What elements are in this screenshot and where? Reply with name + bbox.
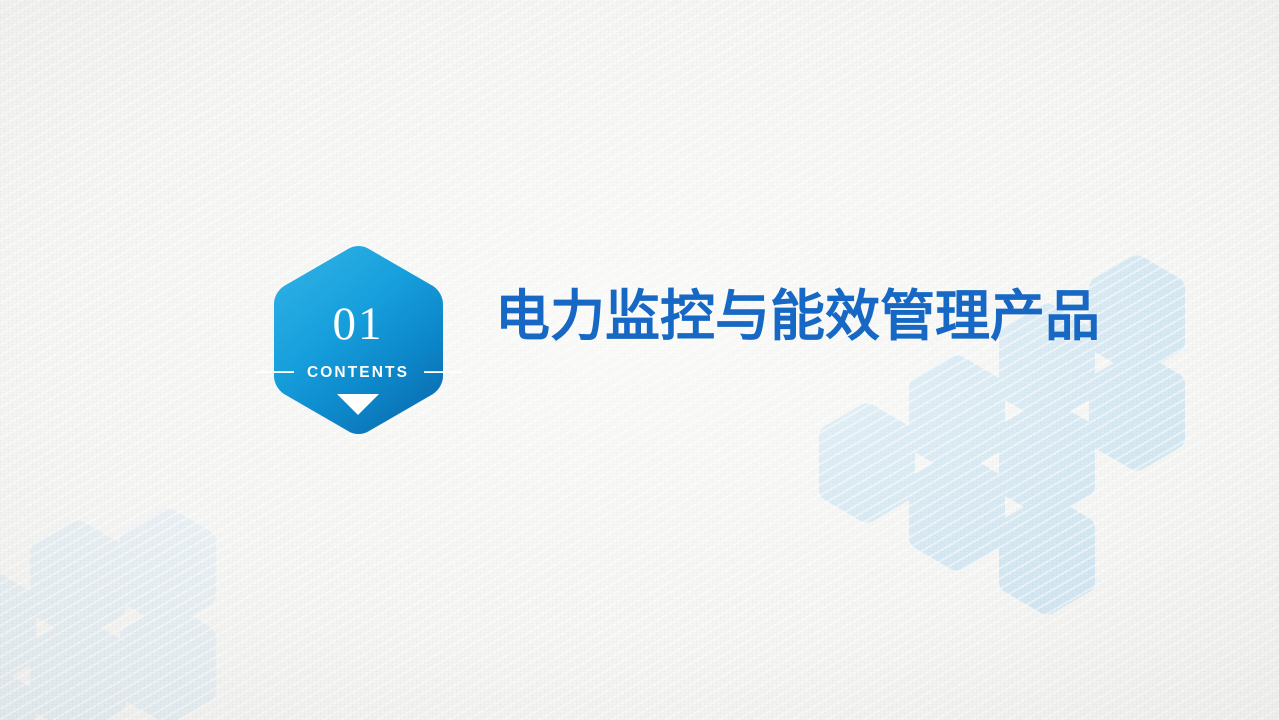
contents-section-badge[interactable]: 01 CONTENTS <box>262 240 462 440</box>
decor-hexagon <box>819 404 915 523</box>
badge-divider-line-left <box>256 371 294 373</box>
presentation-slide: 01 CONTENTS 电力监控与能效管理产品 <box>0 0 1279 720</box>
badge-divider-line-right <box>424 371 462 373</box>
decor-hexagon <box>30 617 126 720</box>
badge-number: 01 <box>333 298 384 350</box>
badge-caption: CONTENTS <box>307 364 409 381</box>
decor-hexagon <box>909 452 1005 571</box>
decorative-hexagon-cluster-right <box>845 325 1265 685</box>
decorative-hexagon-cluster-bottom-left <box>0 520 260 720</box>
decor-hexagon <box>999 496 1095 615</box>
decor-hexagon <box>120 605 216 720</box>
page-title: 电力监控与能效管理产品 <box>495 288 1100 346</box>
decor-hexagon <box>1089 352 1185 471</box>
